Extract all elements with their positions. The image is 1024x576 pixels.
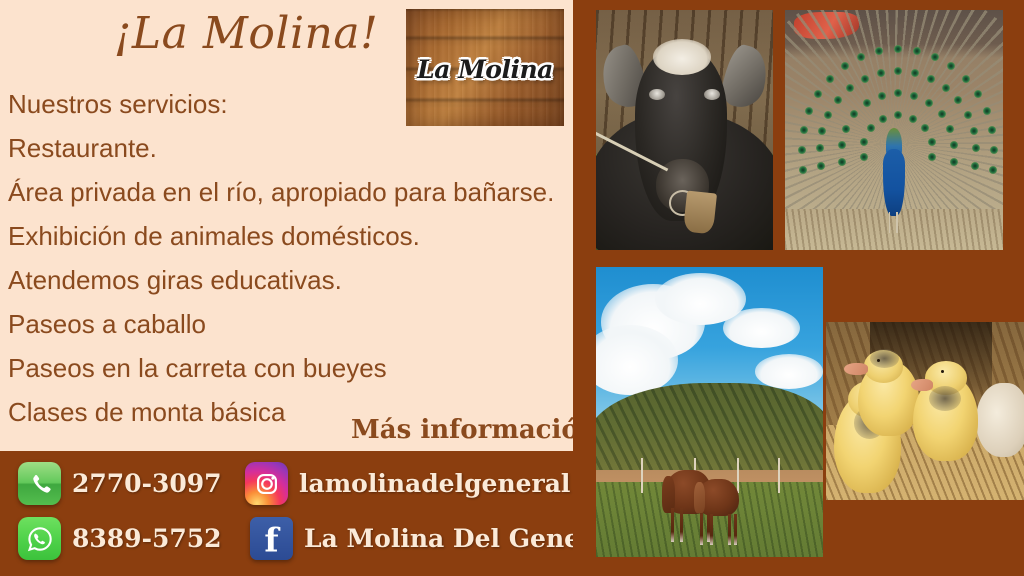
peacock-eyespot: [834, 96, 842, 104]
photo-horses: [596, 267, 823, 557]
instagram-icon: [245, 462, 288, 505]
photo-buffalo: [596, 10, 773, 250]
contact-phone[interactable]: 2770-3097: [18, 462, 222, 505]
peacock-eyespot: [970, 127, 978, 135]
peacock-eyespot: [838, 158, 846, 166]
peacock-eyespot: [974, 90, 982, 98]
contact-instagram[interactable]: lamolinadelgeneral: [245, 462, 570, 505]
service-item-carreta-bueyes: Paseos en la carreta con bueyes: [8, 346, 568, 390]
peacock-eyespot: [928, 138, 936, 146]
peacock-eyespot: [909, 115, 917, 123]
facebook-glyph: f: [250, 520, 293, 559]
peacock-eyespot: [860, 138, 868, 146]
peacock-eyespot: [927, 75, 935, 83]
peacock-eyespot: [850, 110, 858, 118]
more-info-label: Más información:: [351, 415, 607, 445]
peacock-eyespot: [972, 144, 980, 152]
peacock-eyespot: [913, 47, 921, 55]
foal-leg-4: [734, 514, 737, 546]
peacock-eyespot: [877, 69, 885, 77]
peacock-eyespot: [816, 144, 824, 152]
buffalo-forehead-blaze: [653, 39, 711, 75]
peacock-eyespot: [928, 153, 936, 161]
peacock-eyespot: [894, 67, 902, 75]
adult-duck-wing: [976, 383, 1024, 458]
duckling-right-bill: [911, 379, 933, 391]
service-item-restaurante: Restaurante.: [8, 126, 568, 170]
duckling-right-marking: [929, 386, 961, 411]
mare-leg-2: [680, 508, 683, 543]
peacock-eyespot: [950, 141, 958, 149]
contact-facebook-label: La Molina Del General: [304, 524, 619, 553]
peacock-eyespot: [824, 111, 832, 119]
peacock-eyespot: [863, 99, 871, 107]
peacock-leg-right: [896, 212, 898, 234]
peacock-eyespot: [818, 127, 826, 135]
page-title: ¡La Molina!: [96, 8, 396, 59]
peacock-eyespot: [894, 45, 902, 53]
peacock-eyespot: [814, 90, 822, 98]
peacock-eyespot: [879, 115, 887, 123]
buffalo-eye-right: [704, 89, 720, 100]
peacock-eyespot: [867, 124, 875, 132]
peacock-eyespot: [826, 75, 834, 83]
peacock-eyespot: [857, 53, 865, 61]
flyer-poster: ¡La Molina! La Molina Nuestros servicios…: [0, 0, 1024, 576]
duckling-right-eye: [941, 370, 944, 373]
peacock-eyespot: [799, 166, 807, 174]
peacock-eyespot: [988, 126, 996, 134]
peacock-eyespot: [894, 111, 902, 119]
service-item-exhibicion: Exhibición de animales domésticos.: [8, 214, 568, 258]
peacock-eyespot: [817, 162, 825, 170]
peacock-eyespot: [938, 110, 946, 118]
peacock-eyespot: [950, 158, 958, 166]
peacock-eyespot: [861, 75, 869, 83]
foal-neck: [694, 482, 705, 514]
photo-ducklings: [826, 322, 1024, 500]
peacock-eyespot: [946, 125, 954, 133]
peacock-eyespot: [989, 166, 997, 174]
phone-icon: [18, 462, 61, 505]
instagram-glyph: [245, 462, 288, 505]
whatsapp-glyph: [18, 517, 61, 560]
foal-leg-3: [728, 514, 731, 546]
contact-facebook[interactable]: f La Molina Del General: [250, 517, 619, 560]
peacock-eyespot: [805, 107, 813, 115]
service-item-giras: Atendemos giras educativas.: [8, 258, 568, 302]
contact-whatsapp[interactable]: 8389-5752: [18, 517, 222, 560]
peacock-eyespot: [931, 53, 939, 61]
phone-glyph: [18, 462, 61, 505]
peacock-eyespot: [838, 141, 846, 149]
peacock-eyespot: [990, 146, 998, 154]
foal-leg-1: [700, 514, 703, 546]
contact-whatsapp-label: 8389-5752: [72, 524, 222, 553]
peacock-eyespot: [911, 69, 919, 77]
contact-phone-label: 2770-3097: [72, 469, 222, 498]
foal-leg-2: [710, 514, 713, 546]
fence-post-4: [778, 458, 780, 493]
peacock-leg-left: [889, 212, 891, 234]
buffalo-eye-left: [649, 89, 665, 100]
peacock-eyespot: [921, 124, 929, 132]
peacock-eyespot: [842, 125, 850, 133]
peacock-eyespot: [964, 111, 972, 119]
peacock-eyespot: [910, 92, 918, 100]
peacock-eyespot: [860, 153, 868, 161]
peacock-eyespot: [798, 146, 806, 154]
facebook-icon: f: [250, 517, 293, 560]
services-list: Nuestros servicios: Restaurante. Área pr…: [8, 82, 568, 434]
whatsapp-icon: [18, 517, 61, 560]
peacock-eyespot: [925, 99, 933, 107]
mare-leg-1: [671, 508, 674, 543]
cloud-5: [755, 354, 823, 389]
peacock-eyespot: [894, 89, 902, 97]
photo-panel: [573, 0, 1024, 576]
peacock-eyespot: [971, 162, 979, 170]
peacock-eyespot: [800, 126, 808, 134]
peacock-eyespot: [878, 92, 886, 100]
peacock-eyespot: [875, 47, 883, 55]
photo-peacock: [785, 10, 1003, 250]
peacock-eyespot: [954, 96, 962, 104]
service-item-paseos-caballo: Paseos a caballo: [8, 302, 568, 346]
service-item-area-privada: Área privada en el río, apropiado para b…: [8, 170, 568, 214]
peacock-eyespot: [947, 62, 955, 70]
brand-logo-text: La Molina: [406, 55, 564, 84]
duckling-back-left-bill: [844, 363, 868, 375]
peacock-eyespot: [983, 107, 991, 115]
fence-post-1: [641, 458, 643, 493]
peacock-eyespot: [846, 84, 854, 92]
services-heading: Nuestros servicios:: [8, 82, 568, 126]
peacock-eyespot: [962, 75, 970, 83]
contact-instagram-label: lamolinadelgeneral: [299, 469, 570, 498]
cloud-4: [723, 308, 800, 349]
peacock-body: [883, 149, 905, 216]
peacock-eyespot: [942, 84, 950, 92]
fence-post-3: [737, 458, 739, 493]
peacock-eyespot: [841, 62, 849, 70]
